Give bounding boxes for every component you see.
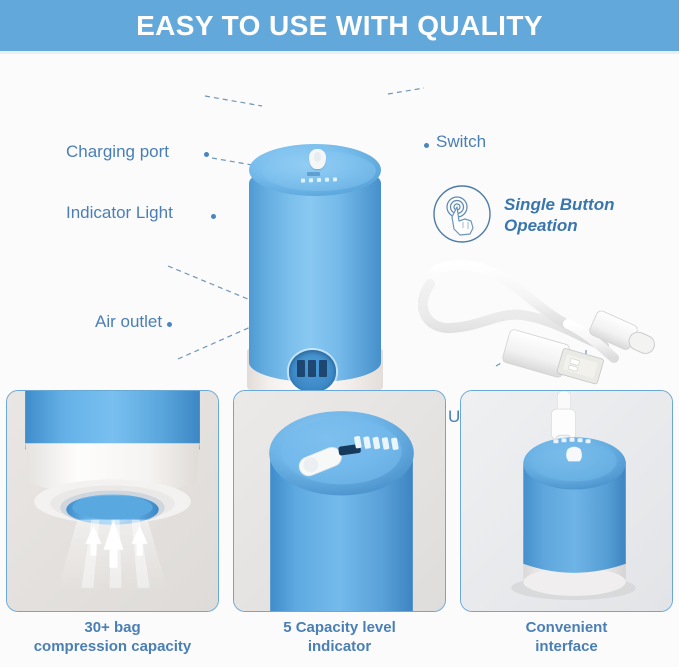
usb-cable-illustration (418, 254, 673, 404)
badge-line-1: Single Button (504, 194, 664, 215)
indicator-led-4 (325, 178, 329, 182)
feature-panel-indicator (233, 390, 446, 612)
callout-switch: Switch (436, 132, 486, 152)
callout-charging-port: Charging port (66, 142, 169, 162)
callout-indicator-light: Indicator Light (66, 203, 173, 223)
panel-2-caption: 5 Capacity level indicator (233, 618, 446, 656)
suction-vent-2 (308, 360, 316, 377)
panel-3-caption: Convenient interface (460, 618, 673, 656)
product-device (245, 142, 385, 404)
touch-tap-icon (432, 184, 492, 244)
panel-1-caption: 30+ bag compression capacity (6, 618, 219, 656)
page-title: EASY TO USE WITH QUALITY (136, 10, 543, 42)
indicator-led-5 (333, 177, 337, 181)
hero-section: Charging port Indicator Light Air outlet… (0, 54, 679, 384)
power-switch-button[interactable] (309, 149, 326, 169)
device-top-switch-photo (234, 391, 445, 611)
suction-vent-3 (319, 360, 327, 377)
callout-dot-charging-port (204, 152, 209, 157)
feature-panel-interface (460, 390, 673, 612)
single-button-badge-text: Single Button Opeation (504, 194, 664, 236)
indicator-led-2 (309, 178, 313, 182)
callout-dot-switch (424, 143, 429, 148)
charging-port-slot (307, 172, 320, 176)
badge-line-2: Opeation (504, 215, 664, 236)
indicator-led-1 (301, 178, 305, 182)
device-with-cable-photo (461, 391, 672, 611)
panel-1-caption-line-2: compression capacity (6, 637, 219, 656)
callout-dot-air-outlet (167, 322, 172, 327)
panel-1-caption-line-1: 30+ bag (6, 618, 219, 637)
suction-port (289, 350, 336, 392)
panel-3-caption-line-1: Convenient (460, 618, 673, 637)
infographic-root: EASY TO USE WITH QUALITY Charging port I… (0, 0, 679, 667)
header-banner: EASY TO USE WITH QUALITY (0, 0, 679, 51)
panel-2-caption-line-2: indicator (233, 637, 446, 656)
feature-panel-airflow (6, 390, 219, 612)
panel-2-caption-line-1: 5 Capacity level (233, 618, 446, 637)
type-c-connector-housing (551, 409, 575, 439)
panel-3-caption-line-2: interface (460, 637, 673, 656)
indicator-led-3 (317, 178, 321, 182)
callout-dot-indicator-light (211, 214, 216, 219)
suction-vent-1 (297, 360, 305, 377)
suction-port-airflow-photo (7, 391, 218, 611)
callout-air-outlet: Air outlet (95, 312, 162, 332)
